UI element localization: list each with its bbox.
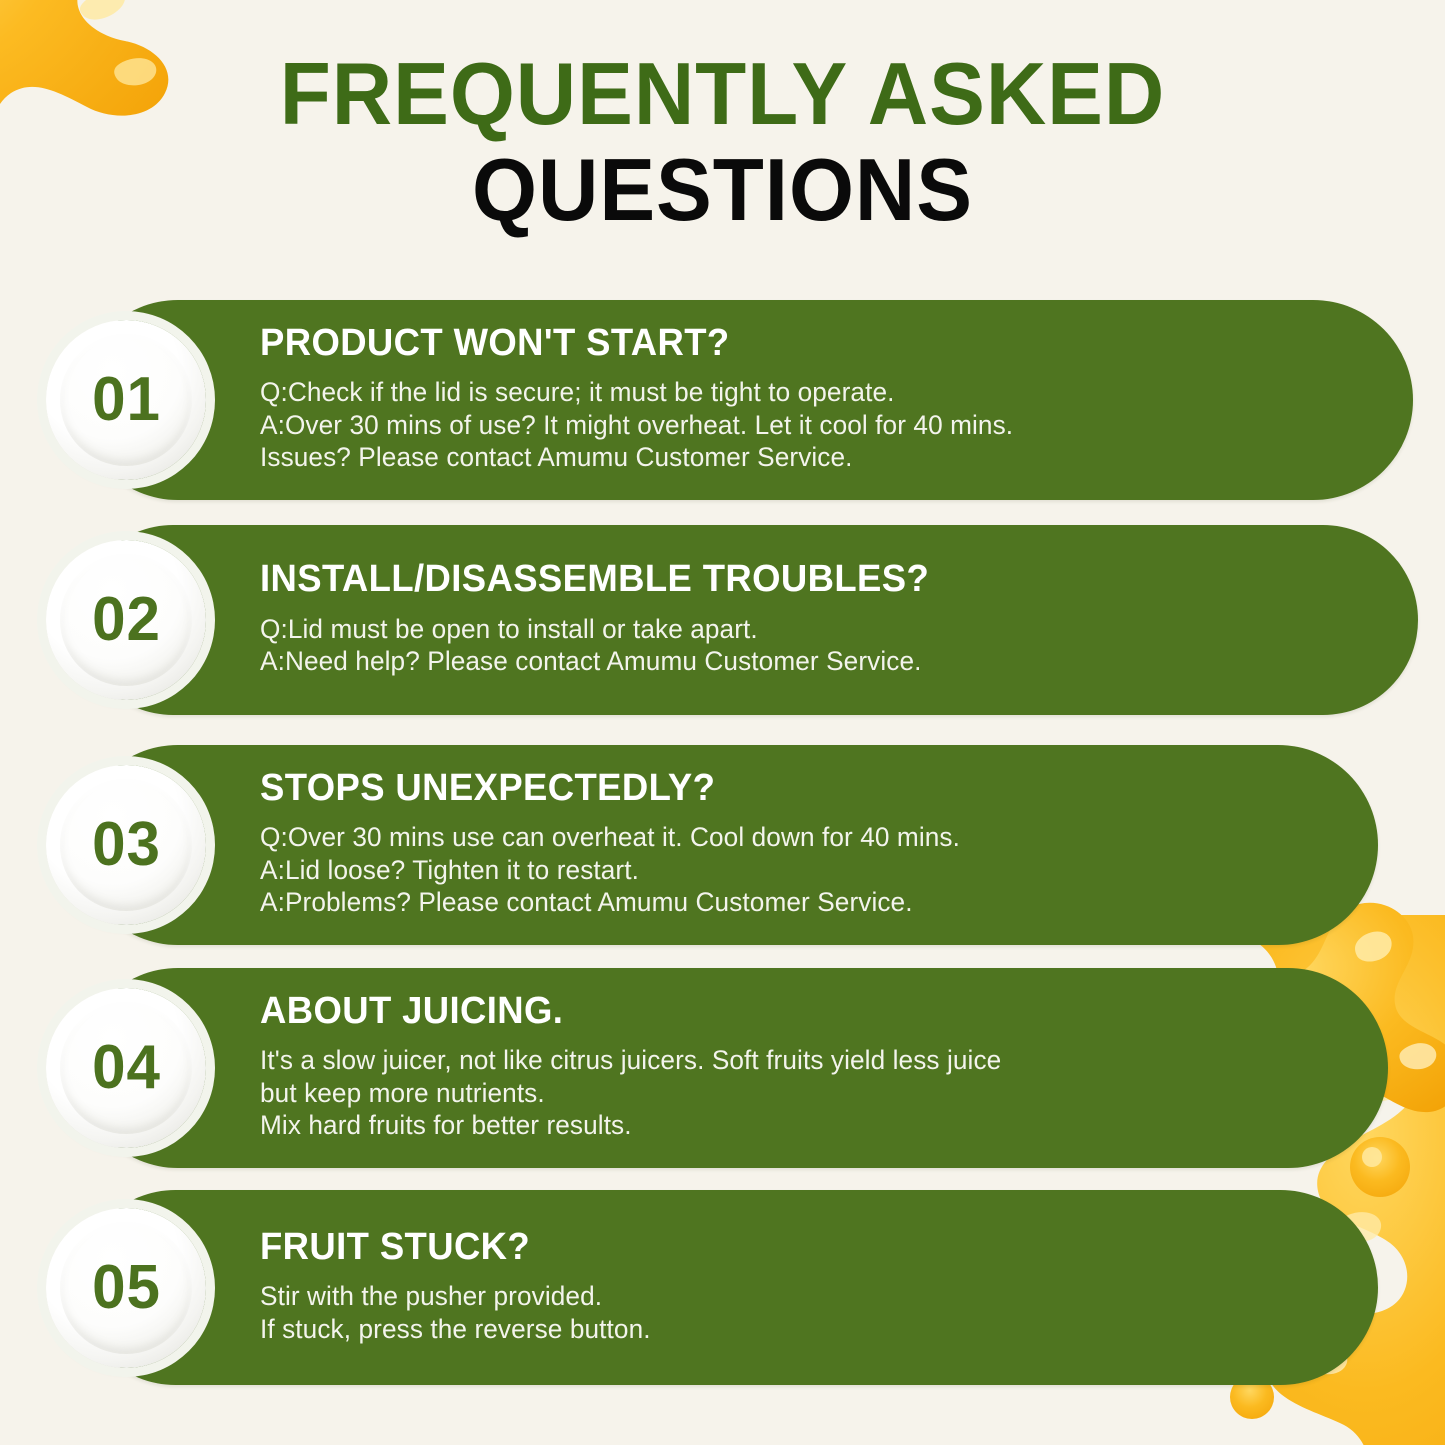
faq-answer-line: Q:Check if the lid is secure; it must be… (260, 376, 1346, 408)
faq-content: ABOUT JUICING.It's a slow juicer, not li… (260, 991, 1380, 1142)
faq-answer-line: Q:Lid must be open to install or take ap… (260, 613, 1346, 645)
faq-answer-line: If stuck, press the reverse button. (260, 1313, 1346, 1345)
faq-item: 02INSTALL/DISASSEMBLE TROUBLES?Q:Lid mus… (78, 525, 1418, 715)
faq-answer-line: Stir with the pusher provided. (260, 1280, 1346, 1312)
faq-number-badge: 01 (46, 320, 206, 480)
faq-number-badge: 04 (46, 988, 206, 1148)
faq-number-label: 01 (92, 369, 161, 431)
faq-number-label: 05 (92, 1257, 161, 1319)
faq-answer-block: Q:Lid must be open to install or take ap… (260, 613, 1380, 678)
faq-answer-line: It's a slow juicer, not like citrus juic… (260, 1044, 1346, 1076)
faq-number-badge: 03 (46, 765, 206, 925)
page-title-line-2: QUESTIONS (36, 144, 1409, 236)
faq-number-badge: 02 (46, 540, 206, 700)
faq-content: INSTALL/DISASSEMBLE TROUBLES?Q:Lid must … (260, 559, 1380, 678)
faq-item: 04ABOUT JUICING.It's a slow juicer, not … (78, 968, 1388, 1168)
faq-infographic: FREQUENTLY ASKED QUESTIONS 01PRODUCT WON… (0, 0, 1445, 1445)
faq-content: STOPS UNEXPECTEDLY?Q:Over 30 mins use ca… (260, 768, 1380, 919)
page-title: FREQUENTLY ASKED QUESTIONS (0, 50, 1445, 236)
faq-content: FRUIT STUCK?Stir with the pusher provide… (260, 1227, 1380, 1346)
faq-answer-line: Q:Over 30 mins use can overheat it. Cool… (260, 821, 1346, 853)
faq-answer-block: Q:Over 30 mins use can overheat it. Cool… (260, 821, 1380, 918)
faq-answer-line: Issues? Please contact Amumu Customer Se… (260, 441, 1346, 473)
faq-question: PRODUCT WON'T START? (260, 323, 1335, 365)
faq-answer-line: A:Over 30 mins of use? It might overheat… (260, 409, 1346, 441)
faq-item: 03STOPS UNEXPECTEDLY?Q:Over 30 mins use … (78, 745, 1378, 945)
faq-number-label: 02 (92, 589, 161, 651)
faq-question: ABOUT JUICING. (260, 991, 1335, 1033)
faq-question: FRUIT STUCK? (260, 1227, 1335, 1269)
faq-item: 05FRUIT STUCK?Stir with the pusher provi… (78, 1190, 1378, 1385)
faq-answer-line: A:Need help? Please contact Amumu Custom… (260, 645, 1346, 677)
faq-number-label: 03 (92, 814, 161, 876)
faq-content: PRODUCT WON'T START?Q:Check if the lid i… (260, 323, 1380, 474)
faq-number-label: 04 (92, 1037, 161, 1099)
faq-item: 01PRODUCT WON'T START?Q:Check if the lid… (78, 300, 1413, 500)
faq-question: INSTALL/DISASSEMBLE TROUBLES? (260, 559, 1335, 601)
faq-question: STOPS UNEXPECTEDLY? (260, 768, 1335, 810)
faq-number-badge: 05 (46, 1208, 206, 1368)
faq-answer-block: Stir with the pusher provided.If stuck, … (260, 1280, 1380, 1345)
faq-answer-block: Q:Check if the lid is secure; it must be… (260, 376, 1380, 473)
faq-answer-line: A:Problems? Please contact Amumu Custome… (260, 886, 1346, 918)
faq-answer-block: It's a slow juicer, not like citrus juic… (260, 1044, 1380, 1141)
faq-answer-line: A:Lid loose? Tighten it to restart. (260, 854, 1346, 886)
page-title-line-1: FREQUENTLY ASKED (36, 50, 1409, 138)
faq-answer-line: but keep more nutrients. (260, 1077, 1346, 1109)
faq-answer-line: Mix hard fruits for better results. (260, 1109, 1346, 1141)
